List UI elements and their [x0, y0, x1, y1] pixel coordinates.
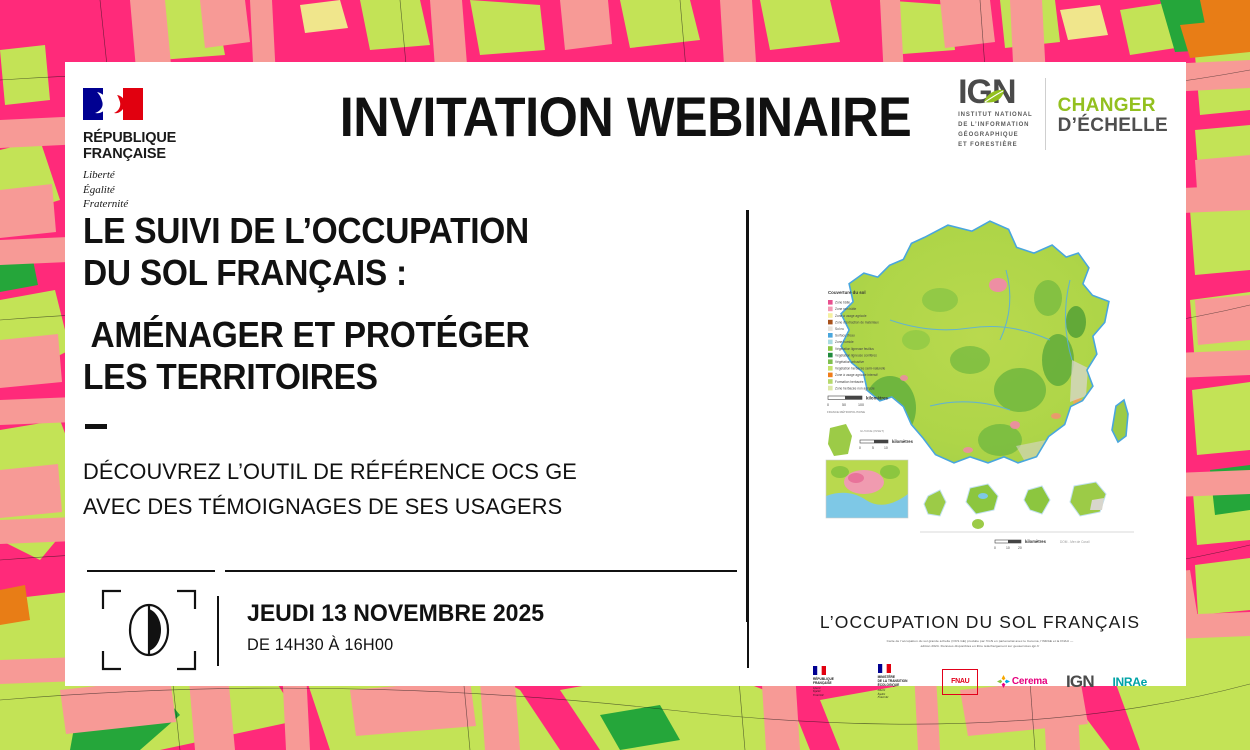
rf-motto-egalite: Égalité — [83, 183, 233, 197]
subheadline-line-1: DÉCOUVREZ L’OUTIL DE RÉFÉRENCE OCS GE — [83, 455, 714, 489]
rule-left — [87, 570, 215, 572]
rf-motto-liberte: Liberté — [83, 168, 233, 182]
headline-line-1: LE SUIVI DE L’OCCUPATION — [83, 210, 688, 252]
french-flag-icon-small-2 — [878, 664, 891, 673]
french-flag-icon-small — [813, 666, 826, 675]
dom-tick-2: 20 — [1018, 546, 1022, 550]
scale-note-dom: DOM - Mer de Corail — [1060, 540, 1090, 544]
event-divider — [217, 596, 219, 666]
headline: LE SUIVI DE L’OCCUPATION DU SOL FRANÇAIS… — [83, 210, 688, 398]
scale-unit-dom: kilomètres — [1025, 539, 1047, 544]
ign-mark: IGN INSTITUT NATIONAL DE L’INFORMATION G… — [958, 78, 1046, 150]
map-credit-line-2: édition 2024. Données disponibles en lib… — [795, 644, 1165, 649]
inset-guyane-label: GUYANE (INSET) — [860, 429, 884, 433]
partner-ministere: MINISTÈRE DE LA TRANSITION ÉCOLOGIQUE Li… — [878, 664, 924, 699]
legend-swatch — [828, 373, 833, 378]
column-divider-lower — [747, 596, 749, 668]
scale-unit-main: kilomètres — [866, 396, 889, 401]
headline-line-4: LES TERRITOIRES — [83, 356, 688, 398]
ign-tagline-line-2: D’ÉCHELLE — [1058, 116, 1168, 136]
dom-tick-0: 0 — [994, 546, 996, 550]
legend-swatch — [828, 313, 833, 318]
ign-sub-2: DE L’INFORMATION — [958, 121, 1033, 131]
france-landcover-map: Couverture du sol Zone bâtieZone non bât… — [820, 210, 1140, 610]
guyane-tick-0: 0 — [859, 446, 861, 450]
scale-tick-1: 50 — [842, 403, 846, 407]
headline-line-3: AMÉNAGER ET PROTÉGER — [83, 314, 688, 356]
legend-swatch — [828, 340, 833, 345]
legend-label: Végétation ligneuse feuillus — [835, 347, 874, 351]
legend-swatch — [828, 353, 833, 358]
column-divider — [746, 210, 749, 622]
partner-ign: IGN — [1066, 672, 1094, 692]
cerema-icon — [997, 675, 1010, 688]
legend-swatch — [828, 379, 833, 384]
event-time: DE 14H30 À 16H00 — [247, 635, 544, 655]
legend-label: Zone à usage agricole — [835, 314, 867, 318]
legend-label: Zone bâtie — [835, 301, 850, 305]
dom-tick-1: 10 — [1006, 546, 1010, 550]
legend-title: Couverture du sol — [828, 290, 866, 295]
partner-fnau-label: FNAU — [951, 678, 969, 685]
map-scalebar-main: kilomètres 0 50 100 FRANCE MÉTROPOLITAIN… — [827, 396, 889, 415]
legend-swatch — [828, 366, 833, 371]
legend-swatch — [828, 326, 833, 331]
scale-tick-2: 100 — [858, 403, 864, 407]
partner-0-line-2: FRANÇAISE — [813, 681, 859, 685]
divider-dash — [85, 424, 107, 429]
map-panel: Couverture du sol Zone bâtieZone non bât… — [795, 210, 1165, 699]
partner-fnau: FNAU — [942, 669, 978, 695]
partner-cerema-label: Cerema — [1012, 676, 1048, 687]
legend-label: Formation herbacée — [835, 380, 864, 384]
legend-swatch — [828, 320, 833, 325]
partner-1-motto: LibertéÉgalitéFraternité — [878, 689, 924, 699]
ign-sub-4: ET FORESTIÈRE — [958, 141, 1033, 151]
subheadline-line-2: AVEC DES TÉMOIGNAGES DE SES USAGERS — [83, 490, 714, 524]
guyane-tick-2: 10 — [884, 446, 888, 450]
ign-sub-1: INSTITUT NATIONAL — [958, 111, 1033, 121]
event-datetime: JEUDI 13 NOVEMBRE 2025 DE 14H30 À 16H00 — [247, 600, 556, 655]
legend-swatch — [828, 386, 833, 391]
legend-label: Végétation ligneuse conifères — [835, 353, 877, 357]
subheadline: DÉCOUVREZ L’OUTIL DE RÉFÉRENCE OCS GE AV… — [83, 455, 714, 523]
legend-swatch — [828, 346, 833, 351]
legend-label: Zone d’extraction de matériaux — [835, 320, 879, 324]
map-credit: Carte de l’occupation du sol grande éche… — [795, 639, 1165, 648]
rf-motto-fraternite: Fraternité — [83, 197, 233, 211]
ign-tagline: CHANGER D’ÉCHELLE — [1046, 78, 1168, 136]
legend-swatch — [828, 307, 833, 312]
partner-inrae: INRAe — [1112, 675, 1147, 689]
scale-note-main: FRANCE MÉTROPOLITAINE — [827, 409, 865, 414]
map-scalebar-dom: kilomètres 0 10 20 DOM - Mer de Corail — [994, 539, 1090, 550]
partner-logos: RÉPUBLIQUE FRANÇAISE LibertéÉgalitéFrate… — [795, 664, 1165, 699]
legend-label: Zone humide — [835, 340, 854, 344]
legend-label: Végétation arbustive — [835, 360, 864, 364]
partner-cerema: Cerema — [997, 675, 1048, 688]
main-copy: LE SUIVI DE L’OCCUPATION DU SOL FRANÇAIS… — [83, 210, 733, 524]
ign-sub-3: GÉOGRAPHIQUE — [958, 131, 1033, 141]
inset-city-zoom — [826, 460, 908, 518]
partner-republique-francaise: RÉPUBLIQUE FRANÇAISE LibertéÉgalitéFrate… — [813, 666, 859, 697]
headline-line-2: DU SOL FRANÇAIS : — [83, 252, 688, 294]
leaf-icon — [983, 89, 1005, 105]
dom-islands — [920, 482, 1134, 532]
rule-right — [225, 570, 737, 572]
lens-bracket-icon — [99, 589, 199, 671]
partner-inrae-label: INRAe — [1112, 675, 1147, 689]
legend-label: Zone herbacée non agricole — [835, 386, 875, 390]
legend-label: Végétation herbacée semi-naturelle — [835, 367, 886, 371]
event-date: JEUDI 13 NOVEMBRE 2025 — [247, 600, 544, 628]
scale-tick-0: 0 — [827, 403, 829, 407]
invitation-card: RÉPUBLIQUE FRANÇAISE Liberté Égalité Fra… — [65, 62, 1186, 686]
inset-guyane-unit: kilomètres — [892, 439, 914, 444]
partner-0-motto: LibertéÉgalitéFraternité — [813, 687, 859, 697]
ign-logo-block: IGN INSTITUT NATIONAL DE L’INFORMATION G… — [958, 78, 1168, 150]
partner-1-line-2: DE LA TRANSITION ÉCOLOGIQUE — [878, 679, 924, 688]
map-title: L’OCCUPATION DU SOL FRANÇAIS — [795, 612, 1165, 633]
partner-ign-label: IGN — [1066, 672, 1094, 691]
legend-swatch — [828, 359, 833, 364]
legend-label: Surface d’eau — [835, 334, 855, 338]
legend-label: Zone non bâtie — [835, 307, 856, 311]
legend-label: Zone à usage agricole intensif — [835, 373, 878, 377]
legend-swatch — [828, 333, 833, 338]
legend-swatch — [828, 300, 833, 305]
legend-label: Sol nu — [835, 327, 844, 331]
ign-tagline-line-1: CHANGER — [1058, 96, 1168, 116]
inset-guyane: GUYANE (INSET) kilomètres 0 5 10 — [828, 424, 914, 456]
guyane-tick-1: 5 — [872, 446, 874, 450]
